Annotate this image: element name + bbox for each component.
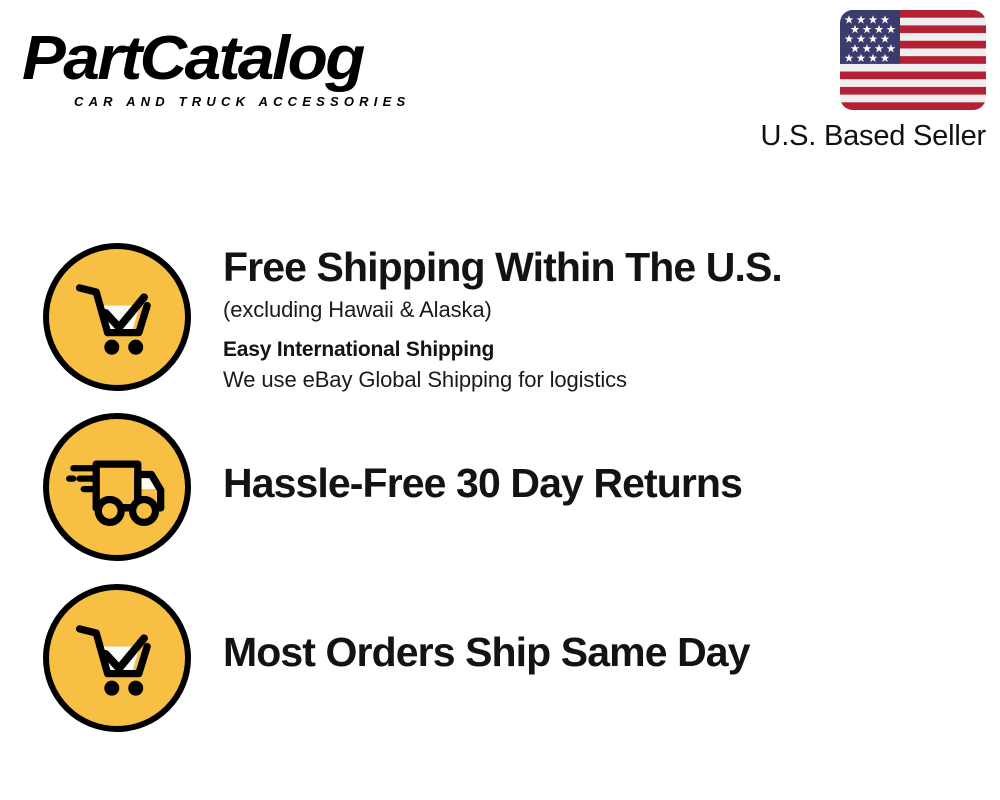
promo-banner: PartCatalog CAR AND TRUCK ACCESSORIES — [0, 0, 1000, 800]
feature-text-block: Most Orders Ship Same Day — [191, 584, 1000, 676]
feature-heading: Hassle-Free 30 Day Returns — [223, 413, 1000, 507]
brand-wordmark: PartCatalog — [22, 26, 520, 92]
feature-subheading-international: Easy International Shipping — [223, 336, 1000, 364]
feature-heading: Free Shipping Within The U.S. — [223, 243, 1000, 291]
feature-row: Hassle-Free 30 Day Returns — [0, 413, 1000, 561]
partcatalog-logo: PartCatalog CAR AND TRUCK ACCESSORIES — [22, 26, 492, 114]
feature-row: Most Orders Ship Same Day — [0, 584, 1000, 732]
delivery-truck-icon — [43, 413, 191, 561]
us-flag-icon — [840, 10, 986, 110]
feature-text-block: Hassle-Free 30 Day Returns — [191, 413, 1000, 507]
feature-row: Free Shipping Within The U.S. (excluding… — [0, 243, 1000, 395]
feature-note-logistics: We use eBay Global Shipping for logistic… — [223, 365, 1000, 395]
brand-tagline: CAR AND TRUCK ACCESSORIES — [74, 94, 492, 109]
us-based-seller-label: U.S. Based Seller — [714, 119, 986, 153]
feature-subtext: (excluding Hawaii & Alaska) — [223, 295, 1000, 325]
banner-header: PartCatalog CAR AND TRUCK ACCESSORIES — [0, 0, 1000, 170]
feature-text-block: Free Shipping Within The U.S. (excluding… — [191, 243, 1000, 395]
shopping-cart-check-icon — [43, 243, 191, 391]
shopping-cart-check-icon — [43, 584, 191, 732]
feature-heading: Most Orders Ship Same Day — [223, 584, 1000, 676]
us-based-seller-badge: U.S. Based Seller — [714, 10, 986, 153]
